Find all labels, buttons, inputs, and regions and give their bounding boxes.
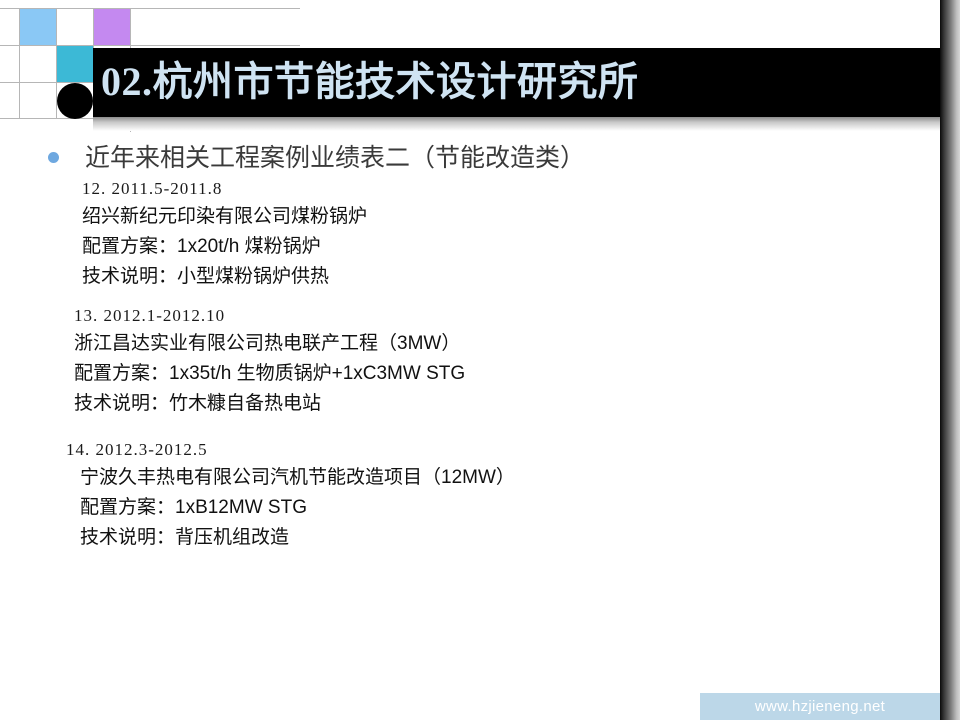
entry-config: 配置方案：1x35t/h 生物质锅炉+1xC3MW STG bbox=[74, 359, 960, 389]
list-item: 13. 2012.1-2012.10 浙江昌达实业有限公司热电联产工程（3MW）… bbox=[74, 303, 960, 419]
bullet-icon bbox=[48, 152, 59, 163]
list-item: 14. 2012.3-2012.5 宁波久丰热电有限公司汽机节能改造项目（12M… bbox=[66, 437, 960, 553]
website-label: www.hzjieneng.net bbox=[700, 693, 940, 720]
entry-date: 14. 2012.3-2012.5 bbox=[66, 437, 960, 463]
black-circle-icon bbox=[57, 83, 93, 119]
entry-project: 绍兴新纪元印染有限公司煤粉锅炉 bbox=[82, 202, 960, 232]
light-blue-square-icon bbox=[20, 9, 56, 45]
entry-project: 浙江昌达实业有限公司热电联产工程（3MW） bbox=[74, 329, 960, 359]
title-bar-shadow bbox=[93, 117, 940, 131]
title-bar: 02.杭州市节能技术设计研究所 bbox=[93, 48, 940, 117]
entry-date: 13. 2012.1-2012.10 bbox=[74, 303, 960, 329]
list-item: 12. 2011.5-2011.8 绍兴新纪元印染有限公司煤粉锅炉 配置方案：1… bbox=[82, 176, 960, 292]
right-edge-shadow bbox=[940, 0, 960, 720]
entry-project: 宁波久丰热电有限公司汽机节能改造项目（12MW） bbox=[80, 463, 960, 493]
entry-date: 12. 2011.5-2011.8 bbox=[82, 176, 960, 202]
grid-line-horizontal bbox=[0, 45, 300, 46]
slide-content: 近年来相关工程案例业绩表二（节能改造类） 12. 2011.5-2011.8 绍… bbox=[0, 140, 940, 174]
entry-config: 配置方案：1x20t/h 煤粉锅炉 bbox=[82, 232, 960, 262]
teal-square-icon bbox=[57, 46, 93, 82]
entry-tech: 技术说明：竹木糠自备热电站 bbox=[74, 389, 960, 419]
entry-tech: 技术说明：小型煤粉锅炉供热 bbox=[82, 262, 960, 292]
purple-square-icon bbox=[94, 9, 130, 45]
footer-bar: www.hzjieneng.net bbox=[700, 693, 940, 720]
entry-tech: 技术说明：背压机组改造 bbox=[80, 523, 960, 553]
entry-config: 配置方案：1xB12MW STG bbox=[80, 493, 960, 523]
page-title: 02.杭州市节能技术设计研究所 bbox=[101, 49, 639, 115]
presentation-slide: 02.杭州市节能技术设计研究所 近年来相关工程案例业绩表二（节能改造类） 12.… bbox=[0, 0, 960, 720]
section-heading: 近年来相关工程案例业绩表二（节能改造类） bbox=[44, 140, 940, 174]
section-heading-label: 近年来相关工程案例业绩表二（节能改造类） bbox=[85, 138, 585, 174]
